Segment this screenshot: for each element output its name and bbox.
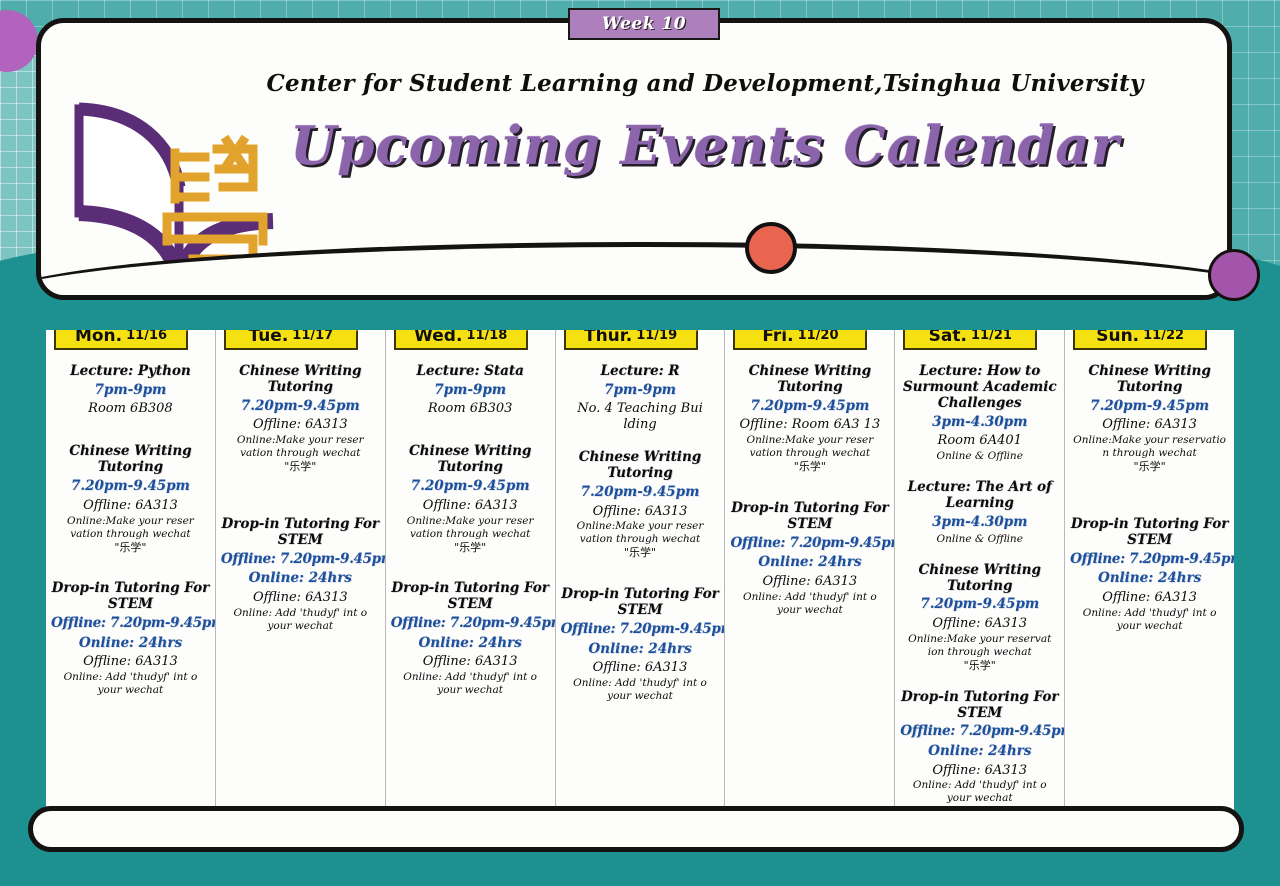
spacer bbox=[221, 491, 380, 517]
event-location: Offline: 6A313 bbox=[1070, 590, 1229, 606]
event-time: 7.20pm-9.45pm bbox=[221, 398, 380, 416]
event-note-chinese: "乐学" bbox=[900, 659, 1059, 673]
day-date-label: 11/16 bbox=[126, 330, 167, 343]
event-time: 7.20pm-9.45pm bbox=[561, 484, 720, 502]
event-location: Offline: 6A313 bbox=[51, 498, 210, 514]
week-badge: Week 10 bbox=[568, 8, 720, 40]
folded-corner-icon bbox=[356, 330, 367, 332]
event-note-chinese: "乐学" bbox=[1070, 460, 1229, 474]
event-time: 7.20pm-9.45pm bbox=[391, 478, 550, 496]
event-title: Lecture: Python bbox=[51, 364, 210, 380]
day-header-tag[interactable]: Mon.11/16 bbox=[54, 330, 188, 350]
spacer bbox=[1070, 491, 1229, 517]
day-column-fri: Fri.11/20Chinese Writing Tutoring7.20pm-… bbox=[725, 330, 895, 822]
event-title: Lecture: How to Surmount Academic Challe… bbox=[900, 364, 1059, 412]
organization-name: Center for Student Learning and Developm… bbox=[255, 70, 1155, 97]
event-note: Online: Add 'thudyf' int o your wechat bbox=[1070, 607, 1229, 633]
event-note: Online:Make your reservat ion through we… bbox=[900, 633, 1059, 659]
day-column-tue: Tue.11/17Chinese Writing Tutoring7.20pm-… bbox=[216, 330, 386, 822]
event-note: Online:Make your reser vation through we… bbox=[221, 434, 380, 460]
event-block[interactable]: Lecture: How to Surmount Academic Challe… bbox=[900, 364, 1059, 463]
day-date-label: 11/20 bbox=[798, 330, 839, 343]
event-time-secondary: Online: 24hrs bbox=[221, 570, 380, 588]
event-location: No. 4 Teaching Bui lding bbox=[561, 401, 720, 433]
event-note-chinese: "乐学" bbox=[730, 460, 889, 474]
event-title: Drop-in Tutoring For STEM bbox=[1070, 517, 1229, 549]
event-time-secondary: Online: 24hrs bbox=[391, 635, 550, 653]
day-name-label: Tue. bbox=[248, 330, 288, 346]
event-block[interactable]: Drop-in Tutoring For STEMOffline: 7.20pm… bbox=[900, 690, 1059, 806]
event-title: Lecture: The Art of Learning bbox=[900, 480, 1059, 512]
event-title: Chinese Writing Tutoring bbox=[221, 364, 380, 396]
event-location: Offline: 6A313 bbox=[730, 574, 889, 590]
event-block[interactable]: Chinese Writing Tutoring7.20pm-9.45pmOff… bbox=[1070, 364, 1229, 474]
event-block[interactable]: Drop-in Tutoring For STEMOffline: 7.20pm… bbox=[221, 517, 380, 633]
event-location: Offline: 6A313 bbox=[1070, 417, 1229, 433]
event-time: 7pm-9pm bbox=[51, 382, 210, 400]
event-time-secondary: Online: 24hrs bbox=[51, 635, 210, 653]
event-time: Offline: 7.20pm-9.45pm bbox=[221, 551, 380, 569]
event-block[interactable]: Lecture: Stata7pm-9pmRoom 6B303 bbox=[391, 364, 550, 417]
event-title: Drop-in Tutoring For STEM bbox=[900, 690, 1059, 722]
event-time: 7.20pm-9.45pm bbox=[51, 478, 210, 496]
event-note: Online: Add 'thudyf' int o your wechat bbox=[561, 677, 720, 703]
event-title: Chinese Writing Tutoring bbox=[391, 444, 550, 476]
event-block[interactable]: Chinese Writing Tutoring7.20pm-9.45pmOff… bbox=[221, 364, 380, 474]
event-time: 7pm-9pm bbox=[561, 382, 720, 400]
event-block[interactable]: Drop-in Tutoring For STEMOffline: 7.20pm… bbox=[51, 581, 210, 697]
event-title: Chinese Writing Tutoring bbox=[51, 444, 210, 476]
event-location: Room 6A401 bbox=[900, 433, 1059, 449]
event-location: Offline: 6A313 bbox=[391, 654, 550, 670]
event-location: Offline: 6A313 bbox=[221, 417, 380, 433]
folded-corner-icon bbox=[865, 330, 876, 332]
folded-corner-icon bbox=[1205, 330, 1216, 332]
event-location: Room 6B308 bbox=[51, 401, 210, 417]
orange-circle-decoration bbox=[745, 222, 797, 274]
event-title: Chinese Writing Tutoring bbox=[730, 364, 889, 396]
event-location: Offline: 6A313 bbox=[561, 504, 720, 520]
event-note-chinese: "乐学" bbox=[51, 541, 210, 555]
event-time: 3pm-4.30pm bbox=[900, 514, 1059, 532]
event-time-secondary: Online: 24hrs bbox=[1070, 570, 1229, 588]
day-date-label: 11/21 bbox=[971, 330, 1012, 343]
event-location: Offline: 6A313 bbox=[900, 763, 1059, 779]
event-block[interactable]: Lecture: The Art of Learning3pm-4.30pmOn… bbox=[900, 480, 1059, 545]
event-time: 7pm-9pm bbox=[391, 382, 550, 400]
day-column-sat: Sat.11/21Lecture: How to Surmount Academ… bbox=[895, 330, 1065, 822]
event-time-secondary: Online: 24hrs bbox=[561, 641, 720, 659]
folded-corner-icon bbox=[696, 330, 707, 332]
event-note: Online: Add 'thudyf' int o your wechat bbox=[730, 591, 889, 617]
event-time-secondary: Online: 24hrs bbox=[900, 743, 1059, 761]
event-block[interactable]: Chinese Writing Tutoring7.20pm-9.45pmOff… bbox=[900, 563, 1059, 673]
event-block[interactable]: Chinese Writing Tutoring7.20pm-9.45pmOff… bbox=[561, 450, 720, 560]
event-note-chinese: "乐学" bbox=[391, 541, 550, 555]
event-block[interactable]: Lecture: R7pm-9pmNo. 4 Teaching Bui ldin… bbox=[561, 364, 720, 433]
event-title: Drop-in Tutoring For STEM bbox=[730, 501, 889, 533]
event-time: Offline: 7.20pm-9.45pm bbox=[51, 615, 210, 633]
event-note: Online & Offline bbox=[900, 450, 1059, 463]
event-block[interactable]: Drop-in Tutoring For STEMOffline: 7.20pm… bbox=[561, 587, 720, 703]
folded-corner-icon bbox=[526, 330, 537, 332]
day-header-tag[interactable]: Thur.11/19 bbox=[564, 330, 698, 350]
event-title: Chinese Writing Tutoring bbox=[1070, 364, 1229, 396]
event-note: Online:Make your reser vation through we… bbox=[51, 515, 210, 541]
day-date-label: 11/22 bbox=[1143, 330, 1184, 343]
header-card: Center for Student Learning and Developm… bbox=[36, 18, 1232, 300]
day-column-wed: Wed.11/18Lecture: Stata7pm-9pmRoom 6B303… bbox=[386, 330, 556, 822]
event-note: Online: Add 'thudyf' int o your wechat bbox=[51, 671, 210, 697]
event-location: Offline: 6A313 bbox=[900, 616, 1059, 632]
day-name-label: Sun. bbox=[1096, 330, 1139, 346]
event-time: 7.20pm-9.45pm bbox=[1070, 398, 1229, 416]
event-location: Offline: 6A313 bbox=[51, 654, 210, 670]
event-title: Lecture: Stata bbox=[391, 364, 550, 380]
event-title: Drop-in Tutoring For STEM bbox=[561, 587, 720, 619]
event-time: 3pm-4.30pm bbox=[900, 414, 1059, 432]
event-title: Chinese Writing Tutoring bbox=[561, 450, 720, 482]
event-block[interactable]: Chinese Writing Tutoring7.20pm-9.45pmOff… bbox=[51, 444, 210, 554]
day-name-label: Thur. bbox=[584, 330, 632, 346]
day-header-tag[interactable]: Fri.11/20 bbox=[733, 330, 867, 350]
event-block[interactable]: Chinese Writing Tutoring7.20pm-9.45pmOff… bbox=[391, 444, 550, 554]
event-note-chinese: "乐学" bbox=[561, 546, 720, 560]
day-date-label: 11/19 bbox=[636, 330, 677, 343]
event-note: Online & Offline bbox=[900, 533, 1059, 546]
page-title: Upcoming Events Calendar bbox=[255, 119, 1155, 175]
event-title: Drop-in Tutoring For STEM bbox=[391, 581, 550, 613]
purple-circle-decoration-right bbox=[1208, 249, 1260, 301]
day-column-sun: Sun.11/22Chinese Writing Tutoring7.20pm-… bbox=[1065, 330, 1234, 822]
event-title: Drop-in Tutoring For STEM bbox=[221, 517, 380, 549]
event-location: Room 6B303 bbox=[391, 401, 550, 417]
events-calendar-poster: Center for Student Learning and Developm… bbox=[0, 0, 1280, 886]
calendar-grid: Mon.11/16Lecture: Python7pm-9pmRoom 6B30… bbox=[46, 330, 1234, 822]
event-time: Offline: 7.20pm-9.45pm bbox=[900, 723, 1059, 741]
event-note: Online:Make your reser vation through we… bbox=[561, 520, 720, 546]
event-time: Offline: 7.20pm-9.45pm bbox=[391, 615, 550, 633]
day-name-label: Fri. bbox=[762, 330, 793, 346]
day-header-tag[interactable]: Wed.11/18 bbox=[394, 330, 528, 350]
event-title: Drop-in Tutoring For STEM bbox=[51, 581, 210, 613]
event-time: 7.20pm-9.45pm bbox=[730, 398, 889, 416]
day-name-label: Mon. bbox=[75, 330, 122, 346]
footer-bar bbox=[28, 806, 1244, 852]
folded-corner-icon bbox=[1035, 330, 1046, 332]
event-location: Offline: Room 6A3 13 bbox=[730, 417, 889, 433]
day-header-tag[interactable]: Sun.11/22 bbox=[1073, 330, 1207, 350]
day-date-label: 11/17 bbox=[292, 330, 333, 343]
event-note: Online:Make your reser vation through we… bbox=[730, 434, 889, 460]
event-block[interactable]: Drop-in Tutoring For STEMOffline: 7.20pm… bbox=[730, 501, 889, 617]
event-location: Offline: 6A313 bbox=[221, 590, 380, 606]
day-date-label: 11/18 bbox=[466, 330, 507, 343]
event-time-secondary: Online: 24hrs bbox=[730, 554, 889, 572]
day-name-label: Sat. bbox=[929, 330, 967, 346]
day-header-tag[interactable]: Tue.11/17 bbox=[224, 330, 358, 350]
event-note: Online:Make your reservatio n through we… bbox=[1070, 434, 1229, 460]
event-note: Online: Add 'thudyf' int o your wechat bbox=[221, 607, 380, 633]
event-note: Online: Add 'thudyf' int o your wechat bbox=[391, 671, 550, 697]
event-title: Chinese Writing Tutoring bbox=[900, 563, 1059, 595]
week-badge-label: Week 10 bbox=[602, 14, 686, 34]
day-column-thur: Thur.11/19Lecture: R7pm-9pmNo. 4 Teachin… bbox=[556, 330, 726, 822]
day-header-tag[interactable]: Sat.11/21 bbox=[903, 330, 1037, 350]
event-time: 7.20pm-9.45pm bbox=[900, 596, 1059, 614]
event-time: Offline: 7.20pm-9.45pm bbox=[730, 535, 889, 553]
event-block[interactable]: Lecture: Python7pm-9pmRoom 6B308 bbox=[51, 364, 210, 417]
event-time: Offline: 7.20pm-9.45pm bbox=[561, 621, 720, 639]
event-time: Offline: 7.20pm-9.45pm bbox=[1070, 551, 1229, 569]
folded-corner-icon bbox=[186, 330, 197, 332]
event-block[interactable]: Chinese Writing Tutoring7.20pm-9.45pmOff… bbox=[730, 364, 889, 474]
day-column-mon: Mon.11/16Lecture: Python7pm-9pmRoom 6B30… bbox=[46, 330, 216, 822]
event-location: Offline: 6A313 bbox=[561, 660, 720, 676]
event-note-chinese: "乐学" bbox=[221, 460, 380, 474]
event-block[interactable]: Drop-in Tutoring For STEMOffline: 7.20pm… bbox=[391, 581, 550, 697]
day-name-label: Wed. bbox=[414, 330, 462, 346]
event-note: Online:Make your reser vation through we… bbox=[391, 515, 550, 541]
event-title: Lecture: R bbox=[561, 364, 720, 380]
event-location: Offline: 6A313 bbox=[391, 498, 550, 514]
event-block[interactable]: Drop-in Tutoring For STEMOffline: 7.20pm… bbox=[1070, 517, 1229, 633]
event-note: Online: Add 'thudyf' int o your wechat bbox=[900, 779, 1059, 805]
